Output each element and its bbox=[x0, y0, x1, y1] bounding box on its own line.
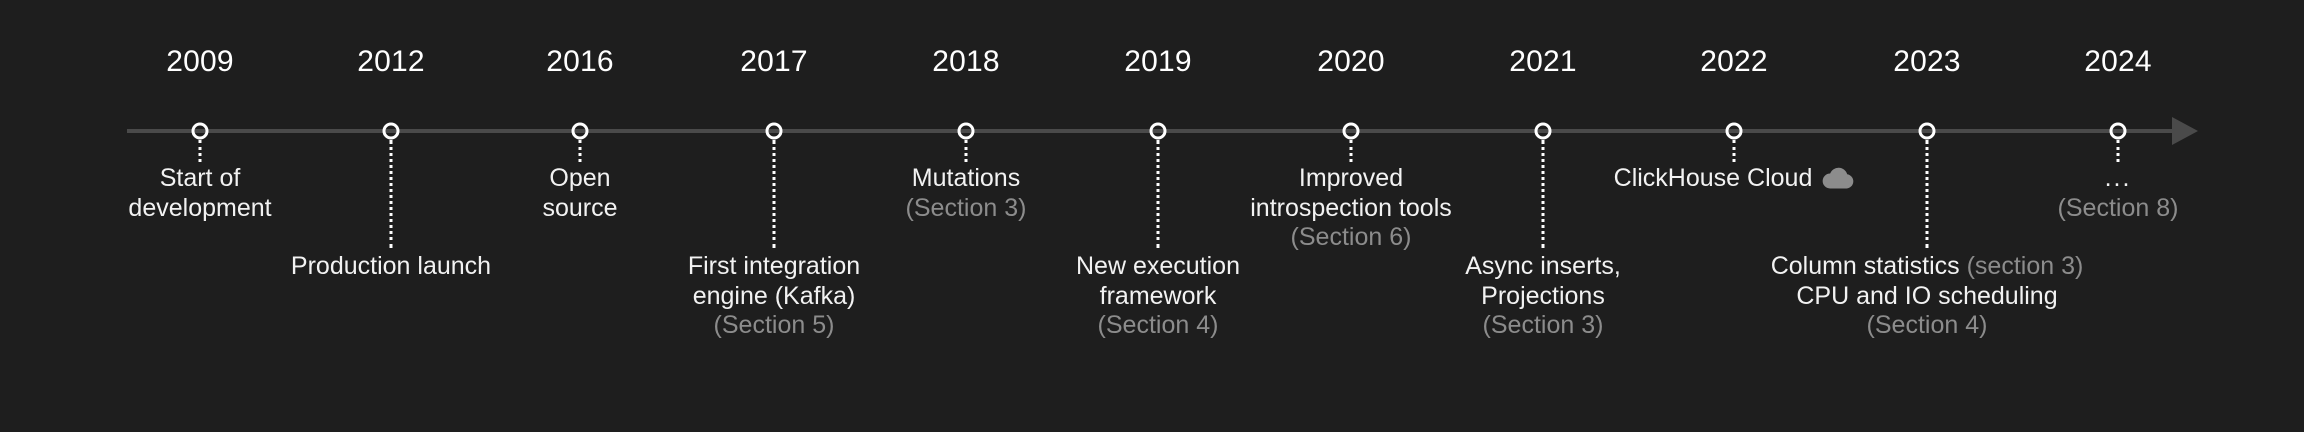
event-label-2023-line2: CPU and IO scheduling bbox=[1771, 282, 2084, 312]
connector-stem-2020 bbox=[1350, 140, 1353, 162]
event-label-2024-line1: ... bbox=[2058, 164, 2179, 194]
connector-stem-2016 bbox=[579, 140, 582, 162]
event-label-2020: Improved introspection tools (Section 6) bbox=[1250, 164, 1452, 253]
event-section-2019: (Section 4) bbox=[1076, 311, 1240, 341]
year-label-2020: 2020 bbox=[1317, 47, 1385, 77]
connector-stem-2019 bbox=[1157, 140, 1160, 248]
event-label-2022-line1: ClickHouse Cloud bbox=[1614, 164, 1855, 198]
connector-stem-2022 bbox=[1733, 140, 1736, 162]
event-label-2016-line1: Open bbox=[542, 164, 617, 194]
event-label-2023-text: Column statistics bbox=[1771, 252, 1960, 280]
event-label-2009-line2: development bbox=[128, 194, 271, 224]
event-section-2017: (Section 5) bbox=[688, 311, 860, 341]
event-section-2020: (Section 6) bbox=[1250, 223, 1452, 253]
event-label-2021-line2: Projections bbox=[1465, 282, 1621, 312]
year-label-2021: 2021 bbox=[1509, 47, 1577, 77]
event-section-2024: (Section 8) bbox=[2058, 194, 2179, 224]
event-label-2022-text: ClickHouse Cloud bbox=[1614, 164, 1813, 192]
event-label-2023-line1: Column statistics (section 3) bbox=[1771, 252, 2084, 282]
event-label-2012: Production launch bbox=[291, 252, 491, 282]
connector-stem-2024 bbox=[2117, 140, 2120, 162]
timeline-marker-2019[interactable] bbox=[1150, 123, 1167, 140]
timeline-marker-2022[interactable] bbox=[1726, 123, 1743, 140]
event-label-2019-line2: framework bbox=[1076, 282, 1240, 312]
event-label-2021-line1: Async inserts, bbox=[1465, 252, 1621, 282]
event-label-2019-line1: New execution bbox=[1076, 252, 1240, 282]
event-label-2020-line2: introspection tools bbox=[1250, 194, 1452, 224]
connector-stem-2021 bbox=[1542, 140, 1545, 248]
event-label-2018-line1: Mutations bbox=[906, 164, 1027, 194]
timeline-diagram: 2009 Start of development 2012 Productio… bbox=[0, 0, 2304, 432]
connector-stem-2017 bbox=[773, 140, 776, 248]
event-label-2017-line2: engine (Kafka) bbox=[688, 282, 860, 312]
year-label-2016: 2016 bbox=[546, 47, 614, 77]
event-section-2021: (Section 3) bbox=[1465, 311, 1621, 341]
cloud-icon bbox=[1820, 166, 1854, 198]
timeline-marker-2012[interactable] bbox=[383, 123, 400, 140]
timeline-marker-2021[interactable] bbox=[1535, 123, 1552, 140]
connector-stem-2012 bbox=[390, 140, 393, 248]
timeline-marker-2020[interactable] bbox=[1343, 123, 1360, 140]
event-label-2020-line1: Improved bbox=[1250, 164, 1452, 194]
event-label-2024: ... (Section 8) bbox=[2058, 164, 2179, 223]
event-label-2009-line1: Start of bbox=[128, 164, 271, 194]
event-label-2018: Mutations (Section 3) bbox=[906, 164, 1027, 223]
event-label-2016: Open source bbox=[542, 164, 617, 223]
year-label-2019: 2019 bbox=[1124, 47, 1192, 77]
timeline-marker-2023[interactable] bbox=[1919, 123, 1936, 140]
timeline-marker-2016[interactable] bbox=[572, 123, 589, 140]
year-label-2023: 2023 bbox=[1893, 47, 1961, 77]
event-label-2023: Column statistics (section 3) CPU and IO… bbox=[1771, 252, 2084, 341]
event-section-2023: (Section 4) bbox=[1771, 311, 2084, 341]
timeline-marker-2018[interactable] bbox=[958, 123, 975, 140]
timeline-marker-2009[interactable] bbox=[192, 123, 209, 140]
timeline-axis-arrow-icon bbox=[2172, 117, 2198, 145]
timeline-marker-2024[interactable] bbox=[2110, 123, 2127, 140]
year-label-2024: 2024 bbox=[2084, 47, 2152, 77]
event-label-2019: New execution framework (Section 4) bbox=[1076, 252, 1240, 341]
event-label-2017-line1: First integration bbox=[688, 252, 860, 282]
event-label-2009: Start of development bbox=[128, 164, 271, 223]
year-label-2012: 2012 bbox=[357, 47, 425, 77]
event-label-2021: Async inserts, Projections (Section 3) bbox=[1465, 252, 1621, 341]
event-label-2012-line1: Production launch bbox=[291, 252, 491, 282]
connector-stem-2009 bbox=[199, 140, 202, 162]
event-inline-section-2023: (section 3) bbox=[1967, 252, 2084, 280]
year-label-2018: 2018 bbox=[932, 47, 1000, 77]
event-label-2022: ClickHouse Cloud bbox=[1614, 164, 1855, 198]
event-label-2016-line2: source bbox=[542, 194, 617, 224]
event-section-2018: (Section 3) bbox=[906, 194, 1027, 224]
connector-stem-2018 bbox=[965, 140, 968, 162]
event-label-2017: First integration engine (Kafka) (Sectio… bbox=[688, 252, 860, 341]
year-label-2017: 2017 bbox=[740, 47, 808, 77]
timeline-marker-2017[interactable] bbox=[766, 123, 783, 140]
connector-stem-2023 bbox=[1926, 140, 1929, 248]
year-label-2022: 2022 bbox=[1700, 47, 1768, 77]
year-label-2009: 2009 bbox=[166, 47, 234, 77]
